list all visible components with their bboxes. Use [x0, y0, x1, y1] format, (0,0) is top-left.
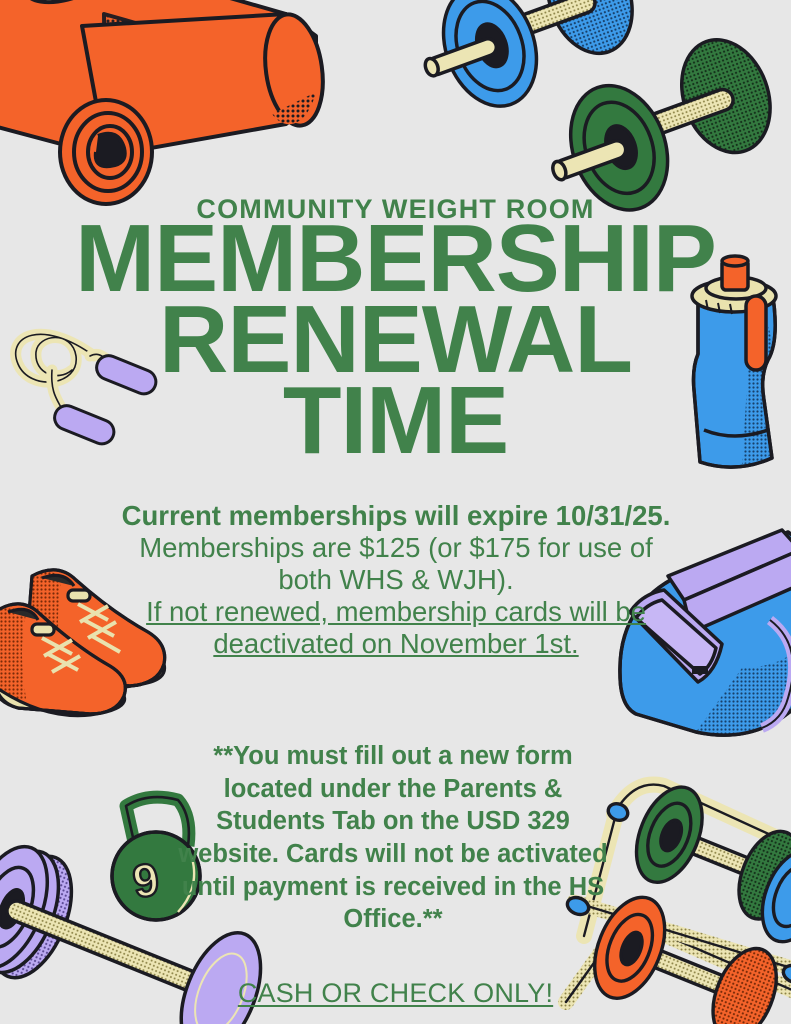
notice-text: **You must fill out a new form located u… [178, 740, 608, 936]
body-paragraph-expiry: Current memberships will expire 10/31/25… [118, 500, 674, 532]
poster-footer-note: CASH OR CHECK ONLY! [0, 978, 791, 1009]
poster-text-layer: COMMUNITY WEIGHT ROOM MEMBERSHIP RENEWAL… [0, 0, 791, 1024]
body-paragraph-pricing: Memberships are $125 (or $175 for use of… [118, 532, 674, 596]
poster-body-block: Current memberships will expire 10/31/25… [118, 500, 674, 659]
poster-notice-block: **You must fill out a new form located u… [178, 740, 608, 936]
body-paragraph-deactivation: If not renewed, membership cards will be… [118, 596, 674, 660]
poster-headline: MEMBERSHIP RENEWAL TIME [0, 218, 791, 461]
membership-renewal-poster: 9 [0, 0, 791, 1024]
headline-line-3: TIME [0, 380, 791, 461]
